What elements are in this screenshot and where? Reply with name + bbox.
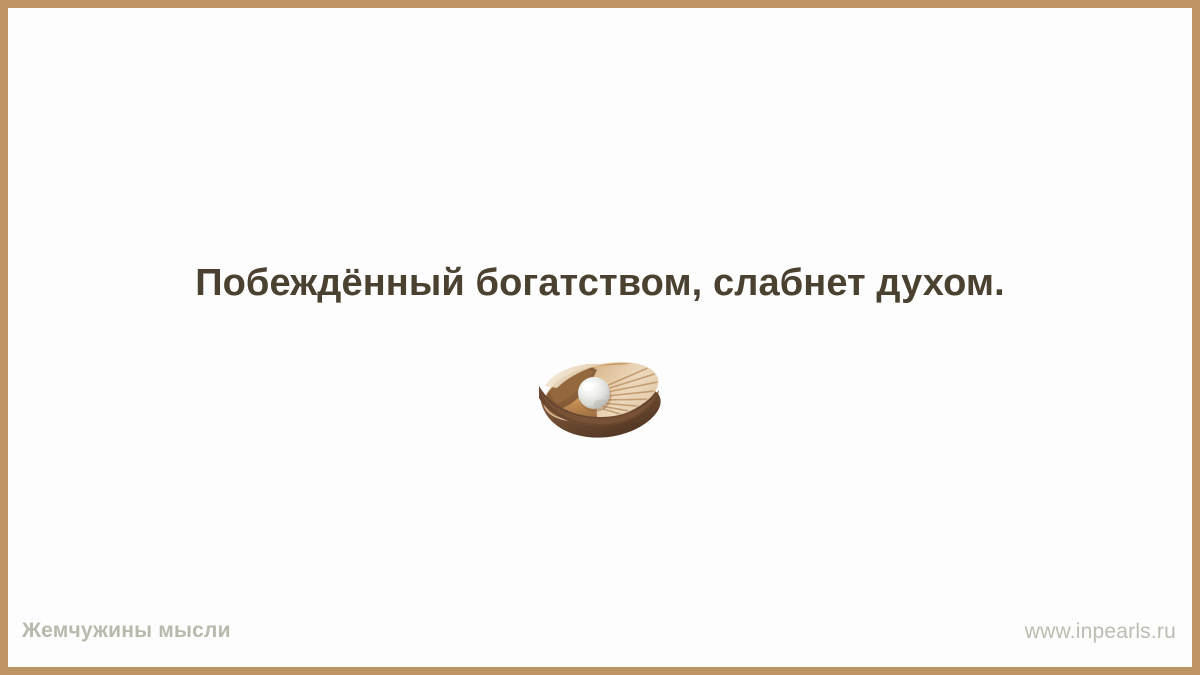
quote-block: Побеждённый богатством, слабнет духом. bbox=[8, 260, 1192, 306]
seashell-with-pearl-icon bbox=[535, 356, 665, 442]
site-url-label[interactable]: www.inpearls.ru bbox=[1025, 620, 1176, 644]
footer: Жемчужины мысли www.inpearls.ru bbox=[8, 607, 1192, 667]
brand-label: Жемчужины мысли bbox=[22, 619, 231, 643]
quote-card: Побеждённый богатством, слабнет духом. bbox=[0, 0, 1200, 675]
emblem-container bbox=[8, 356, 1192, 442]
quote-text: Побеждённый богатством, слабнет духом. bbox=[195, 260, 1005, 306]
